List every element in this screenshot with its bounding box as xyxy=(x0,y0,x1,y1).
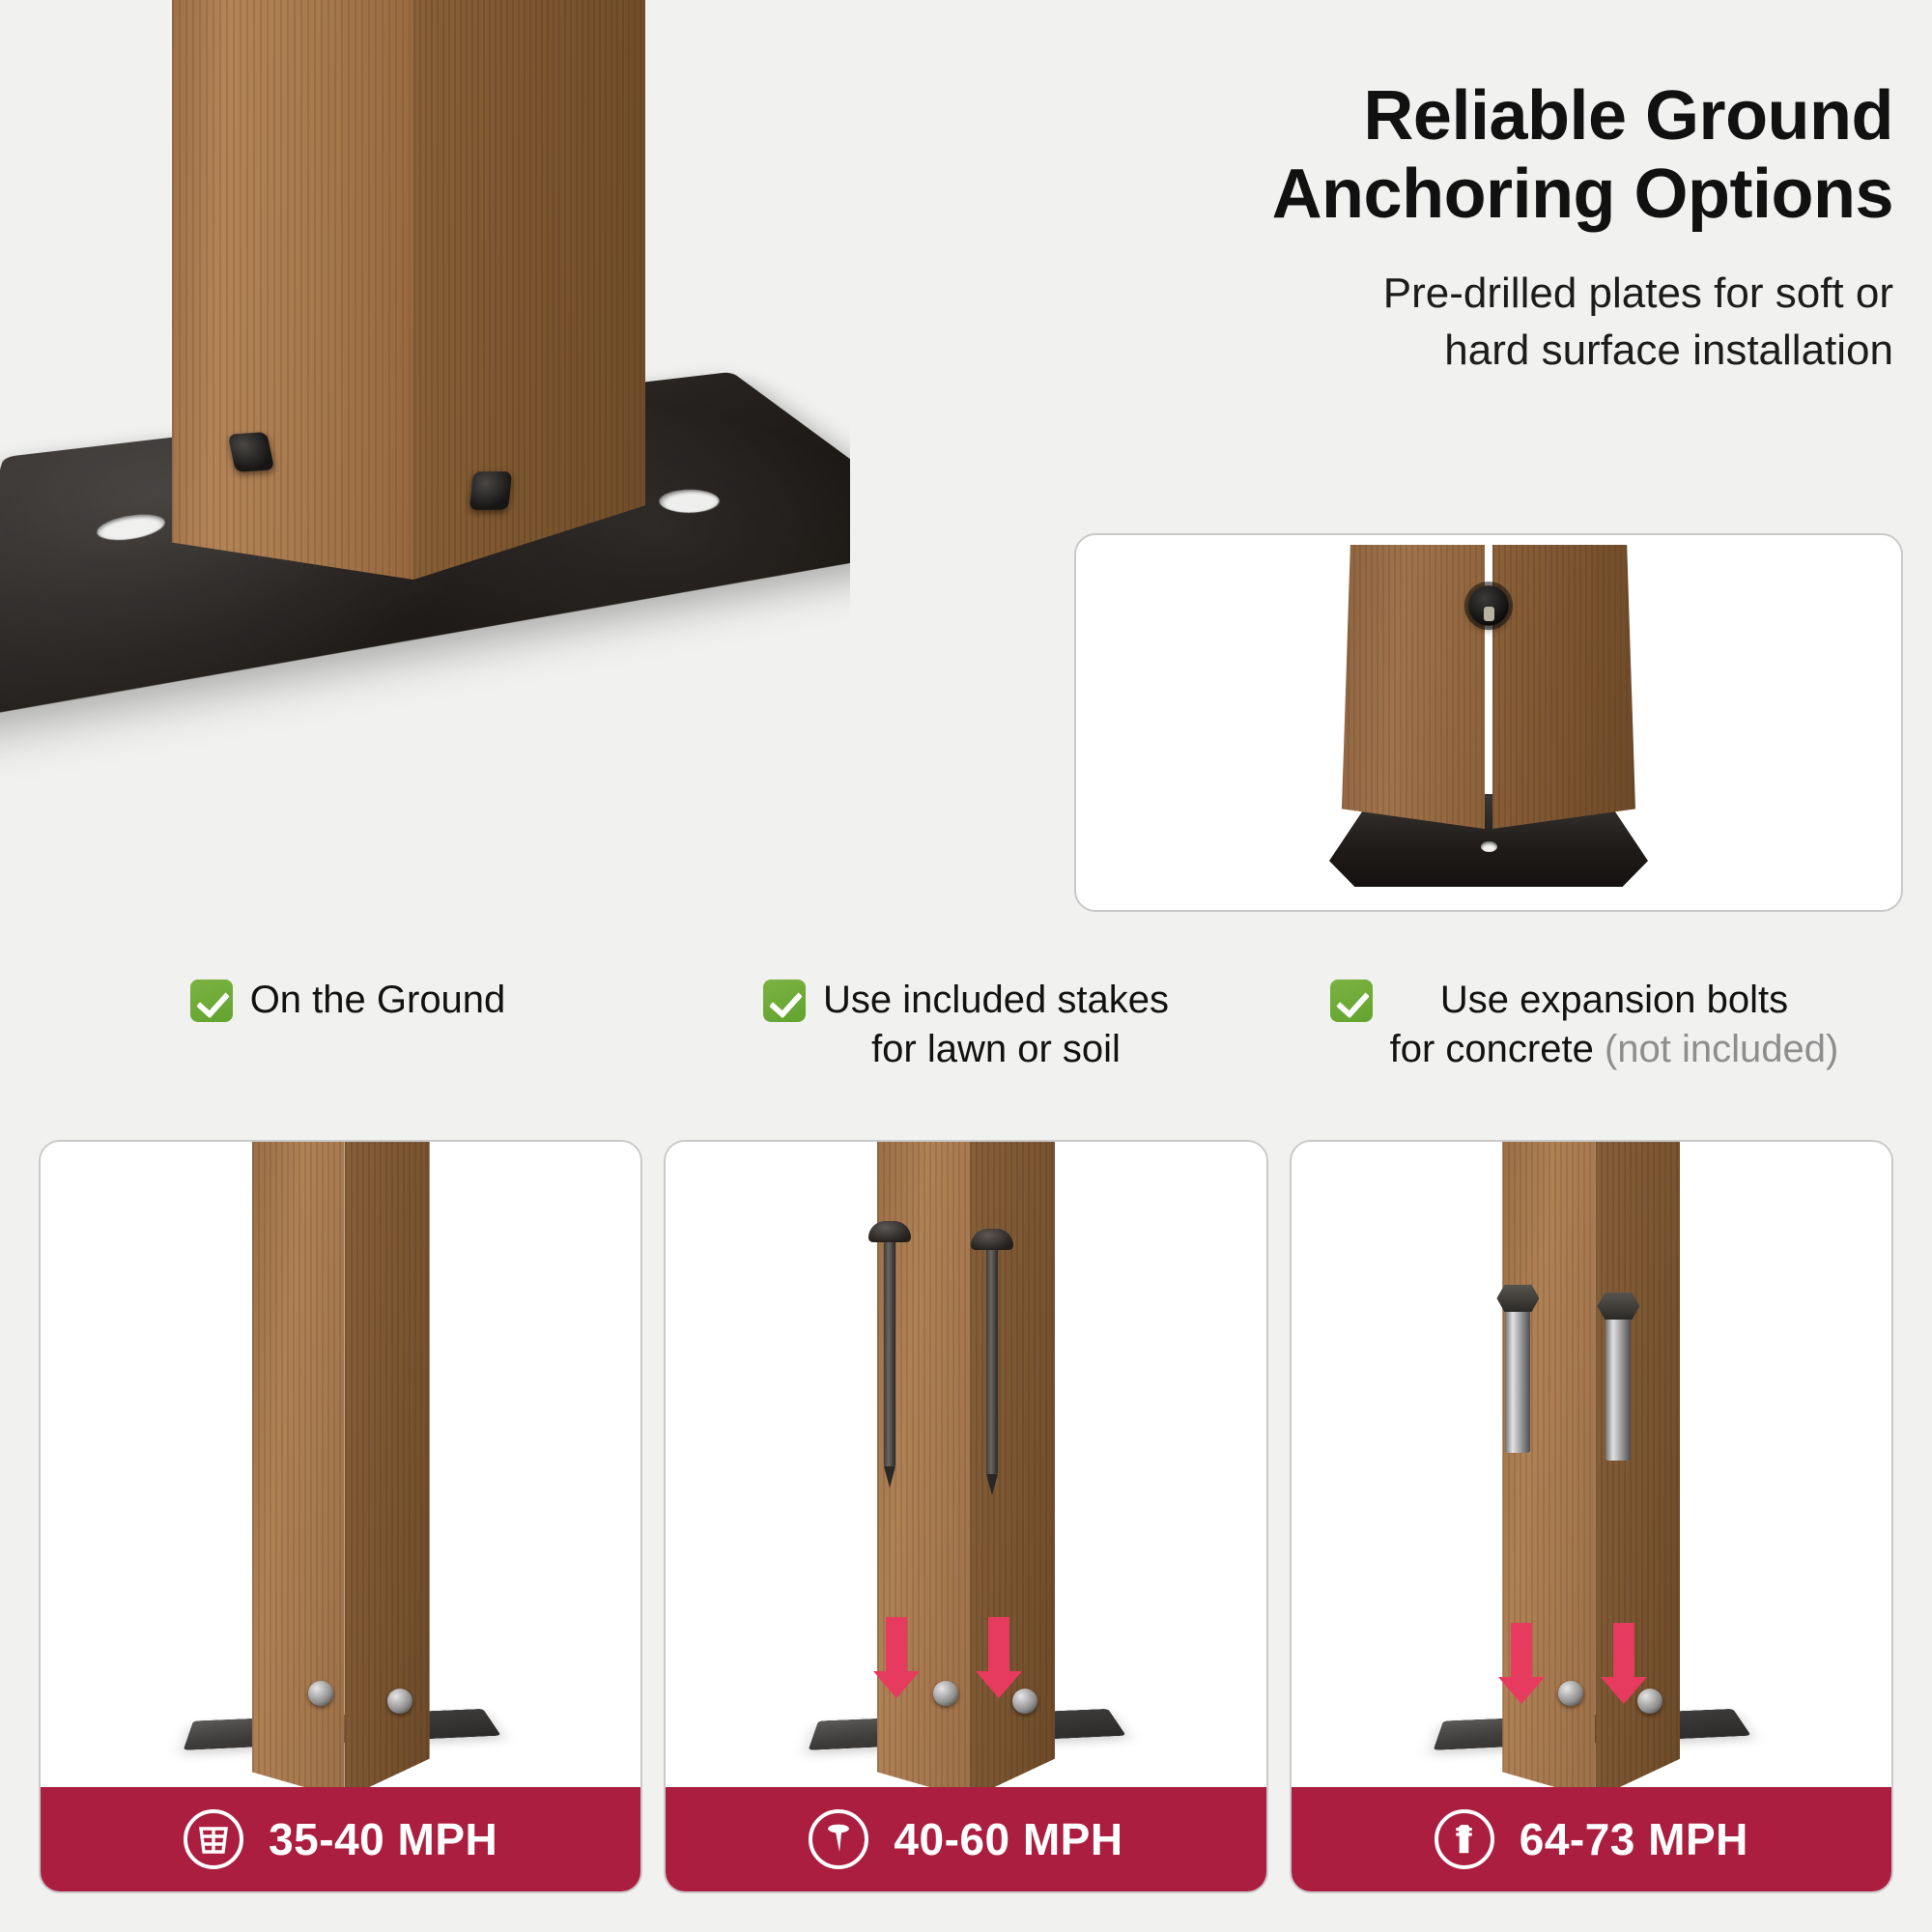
green-check-icon xyxy=(190,980,233,1022)
title-line-2: Anchoring Options xyxy=(792,156,1893,234)
feature-label-line-2: for lawn or soil xyxy=(823,1025,1169,1074)
feature-label-line-1: On the Ground xyxy=(250,979,506,1021)
green-check-icon xyxy=(763,980,806,1022)
two-piece-wood-post xyxy=(1342,545,1635,829)
feature-item: Use included stakes for lawn or soil xyxy=(763,976,1169,1074)
post-half-right xyxy=(1492,545,1635,829)
direction-arrow-icon xyxy=(886,1617,907,1673)
title-line-1: Reliable Ground xyxy=(792,77,1893,156)
wind-rating-banner: 40-60 MPH xyxy=(666,1787,1265,1891)
feature-check-row: On the Ground Use included stakes for la… xyxy=(39,976,1893,1130)
post-face-right xyxy=(413,0,645,580)
inset-detail-card xyxy=(1074,533,1903,912)
wind-rating-label: 40-60 MPH xyxy=(894,1813,1122,1865)
predrilled-hole xyxy=(96,511,165,544)
post-face-right xyxy=(345,1142,430,1787)
hero-scene xyxy=(0,0,850,966)
expansion-bolt xyxy=(1505,1308,1530,1453)
feature-label: Use included stakes for lawn or soil xyxy=(823,976,1169,1074)
feature-label: On the Ground xyxy=(250,976,506,1025)
predrilled-hole xyxy=(651,486,727,516)
wood-post xyxy=(252,1142,430,1787)
hero-product-photo xyxy=(0,0,850,966)
feature-column-1: On the Ground xyxy=(39,976,657,1130)
ground-stake xyxy=(986,1242,998,1474)
direction-arrow-icon xyxy=(1613,1623,1634,1679)
feature-label-line-1: Use expansion bolts xyxy=(1440,979,1788,1021)
screw-icon xyxy=(933,1681,958,1706)
page-subtitle: Pre-drilled plates for soft or hard surf… xyxy=(792,266,1893,379)
page-title: Reliable Ground Anchoring Options xyxy=(792,77,1893,233)
expansion-bolt xyxy=(1605,1316,1631,1461)
green-check-icon xyxy=(1330,980,1373,1022)
ground-stake xyxy=(884,1235,895,1466)
predrilled-hole xyxy=(1481,841,1497,852)
feature-label: Use expansion bolts for concrete (not in… xyxy=(1390,976,1839,1074)
screw-icon xyxy=(308,1681,333,1706)
hex-bolt-icon xyxy=(228,432,275,472)
feature-label-line-1: Use included stakes xyxy=(823,979,1169,1021)
infographic-page: Reliable Ground Anchoring Options Pre-dr… xyxy=(0,0,1932,1932)
direction-arrow-icon xyxy=(1511,1623,1532,1679)
not-included-note: (not included) xyxy=(1605,1028,1838,1070)
wind-rating-banner: 35-40 MPH xyxy=(41,1787,640,1891)
hex-bolt-icon xyxy=(469,471,512,510)
option-card-expansion-bolts[interactable]: 64-73 MPH xyxy=(1290,1140,1893,1893)
hero-wood-post xyxy=(172,0,645,599)
subtitle-line-1: Pre-drilled plates for soft or xyxy=(792,266,1893,323)
stake-nail-icon xyxy=(809,1809,868,1869)
wind-rating-label: 64-73 MPH xyxy=(1520,1813,1748,1865)
post-on-ground-photo xyxy=(41,1142,640,1787)
knob-fastener-icon xyxy=(1468,585,1509,626)
anchoring-option-cards: 35-40 MPH xyxy=(39,1140,1893,1893)
option-card-ground[interactable]: 35-40 MPH xyxy=(39,1140,642,1893)
feature-column-3: Use expansion bolts for concrete (not in… xyxy=(1275,976,1893,1130)
subtitle-line-2: hard surface installation xyxy=(792,323,1893,380)
expansion-bolt-icon xyxy=(1435,1809,1494,1869)
feature-label-line-2: for concrete (not included) xyxy=(1390,1025,1839,1074)
post-with-expansion-bolts-photo xyxy=(1292,1142,1891,1787)
feature-label-line-2-main: for concrete xyxy=(1390,1028,1605,1070)
feature-item: On the Ground xyxy=(190,976,506,1025)
wind-rating-label: 35-40 MPH xyxy=(269,1813,497,1865)
post-face-left xyxy=(172,0,413,580)
feature-column-2: Use included stakes for lawn or soil xyxy=(657,976,1275,1130)
ground-grid-icon xyxy=(184,1809,243,1869)
screw-icon xyxy=(387,1689,412,1714)
post-half-left xyxy=(1342,545,1485,829)
option-card-stakes[interactable]: 40-60 MPH xyxy=(664,1140,1267,1893)
heading-block: Reliable Ground Anchoring Options Pre-dr… xyxy=(792,77,1893,379)
feature-item: Use expansion bolts for concrete (not in… xyxy=(1330,976,1839,1074)
wind-rating-banner: 64-73 MPH xyxy=(1292,1787,1891,1891)
direction-arrow-icon xyxy=(988,1617,1009,1673)
post-with-stakes-photo xyxy=(666,1142,1265,1787)
